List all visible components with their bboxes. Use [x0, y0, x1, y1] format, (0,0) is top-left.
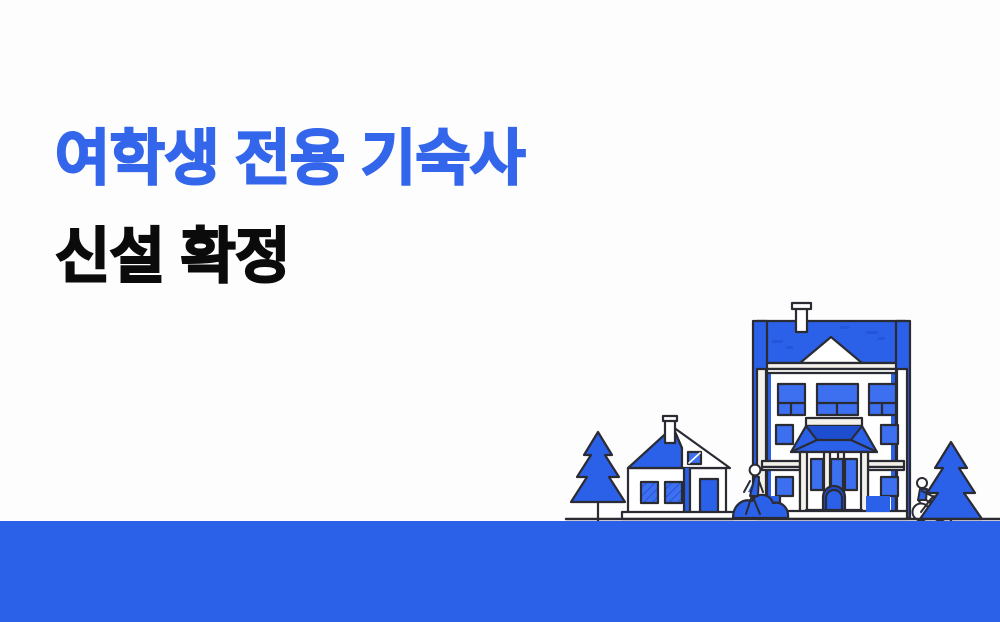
- window-row-upper: [778, 384, 896, 415]
- pine-tree-right: [920, 442, 982, 521]
- headline-line-1: 여학생 전용 기숙사: [55, 124, 525, 194]
- dormitory-building: [753, 303, 910, 519]
- footer-bar: [0, 521, 1000, 622]
- headline-line-2: 신설 확정: [55, 222, 525, 292]
- banner-root: 여학생 전용 기숙사 신설 확정: [0, 0, 1000, 622]
- page-title: 여학생 전용 기숙사 신설 확정: [55, 124, 525, 291]
- pine-tree-left: [571, 432, 625, 521]
- small-house: [622, 416, 734, 519]
- entrance-portico: [791, 418, 877, 518]
